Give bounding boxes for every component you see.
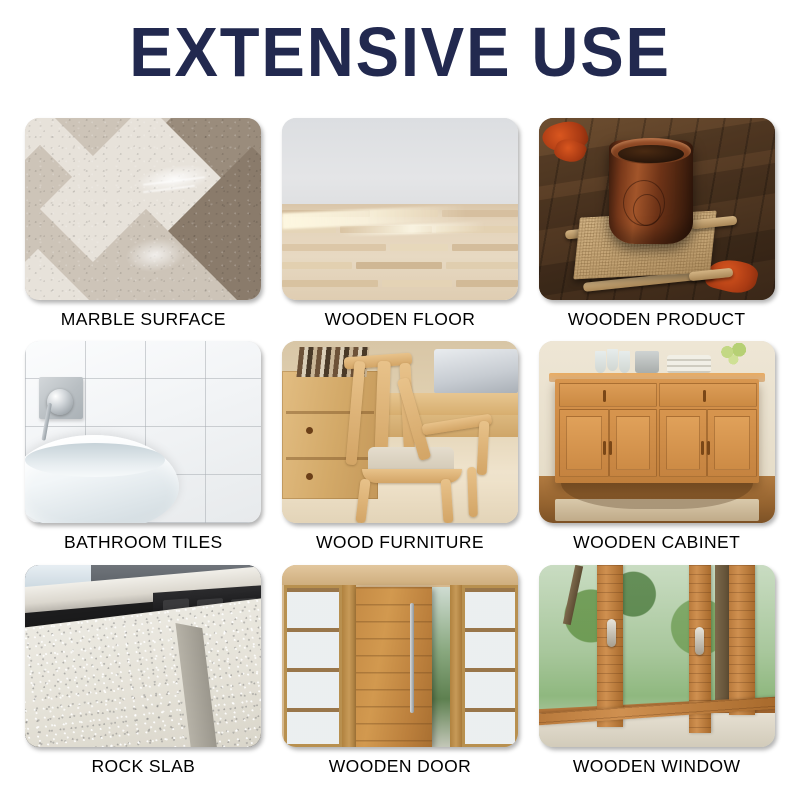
use-case-wooden-floor[interactable]: WOODEN FLOOR — [277, 118, 524, 341]
use-case-wooden-window[interactable]: WOODEN WINDOW — [533, 565, 780, 788]
caption-rock-slab: ROCK SLAB — [91, 756, 195, 777]
thumbnail-wood-furniture[interactable] — [282, 341, 518, 523]
door-leaf — [356, 587, 432, 747]
use-case-rock-slab[interactable]: ROCK SLAB — [20, 565, 267, 788]
caption-wooden-product: WOODEN PRODUCT — [568, 309, 746, 330]
wooden-floor-image — [282, 118, 518, 300]
window-handle-left — [607, 619, 616, 647]
bathroom-tiles-image — [25, 341, 261, 523]
thumbnail-wooden-cabinet[interactable] — [539, 341, 775, 523]
window-handle-right — [695, 627, 704, 655]
wooden-window-image — [539, 565, 775, 747]
use-case-marble-surface[interactable]: MARBLE SURFACE — [20, 118, 267, 341]
wood-furniture-image — [282, 341, 518, 523]
use-case-grid: MARBLE SURFACE — [20, 118, 780, 788]
caption-wooden-cabinet: WOODEN CABINET — [573, 532, 740, 553]
thumbnail-marble-surface[interactable] — [25, 118, 261, 300]
thumbnail-wooden-floor[interactable] — [282, 118, 518, 300]
wooden-cup-image — [539, 118, 775, 300]
caption-wooden-window: WOODEN WINDOW — [573, 756, 741, 777]
use-case-wood-furniture[interactable]: WOOD FURNITURE — [277, 341, 524, 564]
wooden-cup — [609, 140, 693, 244]
wooden-door-image — [282, 565, 518, 747]
caption-wooden-floor: WOODEN FLOOR — [325, 309, 476, 330]
door-handle — [410, 603, 414, 713]
infographic-page: EXTENSIVE USE — [0, 0, 800, 800]
thumbnail-wooden-window[interactable] — [539, 565, 775, 747]
thumbnail-rock-slab[interactable] — [25, 565, 261, 747]
page-title: EXTENSIVE USE — [28, 16, 772, 88]
use-case-bathroom-tiles[interactable]: BATHROOM TILES — [20, 341, 267, 564]
caption-bathroom-tiles: BATHROOM TILES — [64, 532, 223, 553]
thumbnail-bathroom-tiles[interactable] — [25, 341, 261, 523]
caption-marble-surface: MARBLE SURFACE — [61, 309, 226, 330]
wash-basin — [25, 435, 179, 523]
thumbnail-wooden-product[interactable] — [539, 118, 775, 300]
caption-wooden-door: WOODEN DOOR — [329, 756, 471, 777]
marble-floor-image — [25, 118, 261, 300]
caption-wood-furniture: WOOD FURNITURE — [316, 532, 484, 553]
thumbnail-wooden-door[interactable] — [282, 565, 518, 747]
rock-slab-image — [25, 565, 261, 747]
wooden-cabinet-image — [539, 341, 775, 523]
use-case-wooden-door[interactable]: WOODEN DOOR — [277, 565, 524, 788]
use-case-wooden-product[interactable]: WOODEN PRODUCT — [533, 118, 780, 341]
use-case-wooden-cabinet[interactable]: WOODEN CABINET — [533, 341, 780, 564]
